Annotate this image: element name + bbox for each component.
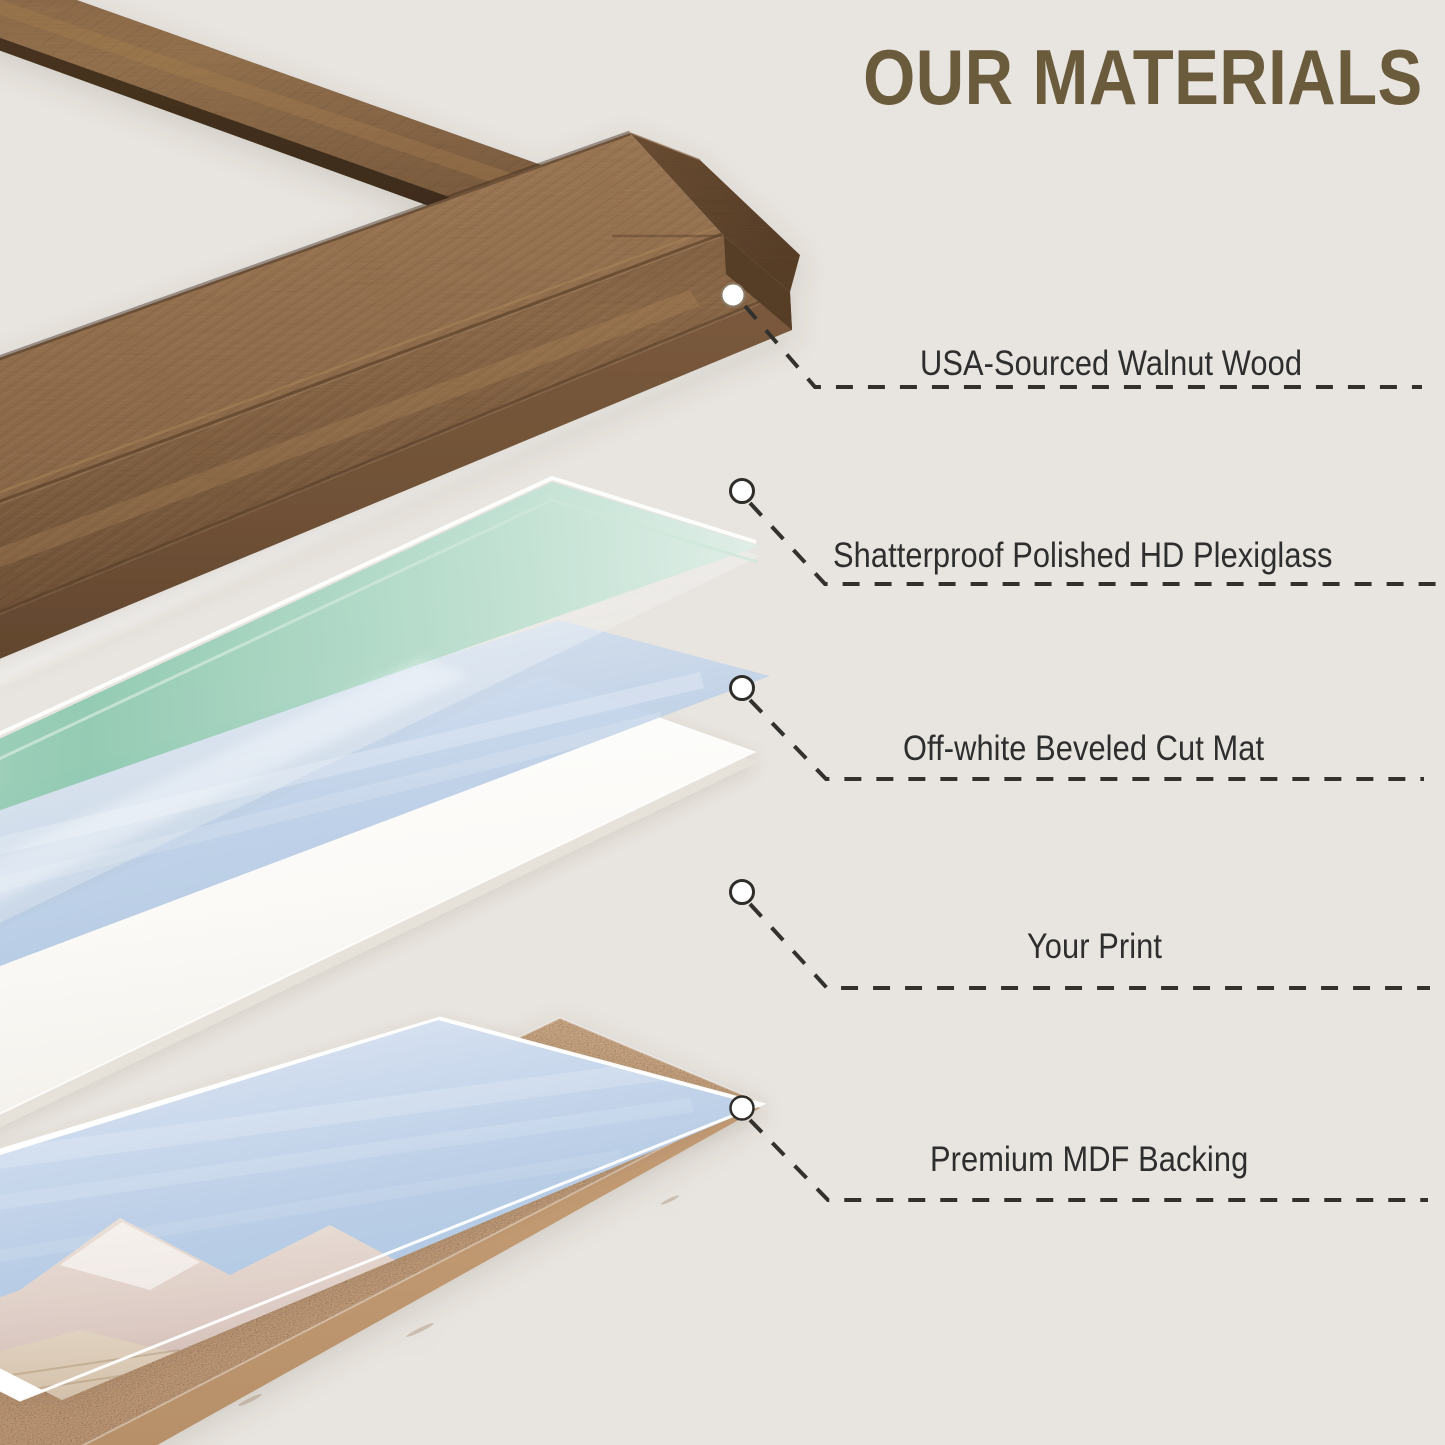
exploded-frame-illustration <box>0 0 1445 1445</box>
infographic-canvas: OUR MATERIALS USA-Sourced Walnut W <box>0 0 1445 1445</box>
callout-label-print: Your Print <box>1027 927 1162 967</box>
callout-label-walnut-wood: USA-Sourced Walnut Wood <box>920 344 1302 384</box>
page-title: OUR MATERIALS <box>863 38 1423 116</box>
callout-label-plexiglass: Shatterproof Polished HD Plexiglass <box>833 536 1333 576</box>
callout-label-mdf-backing: Premium MDF Backing <box>930 1140 1248 1180</box>
callout-label-mat: Off-white Beveled Cut Mat <box>903 729 1264 769</box>
